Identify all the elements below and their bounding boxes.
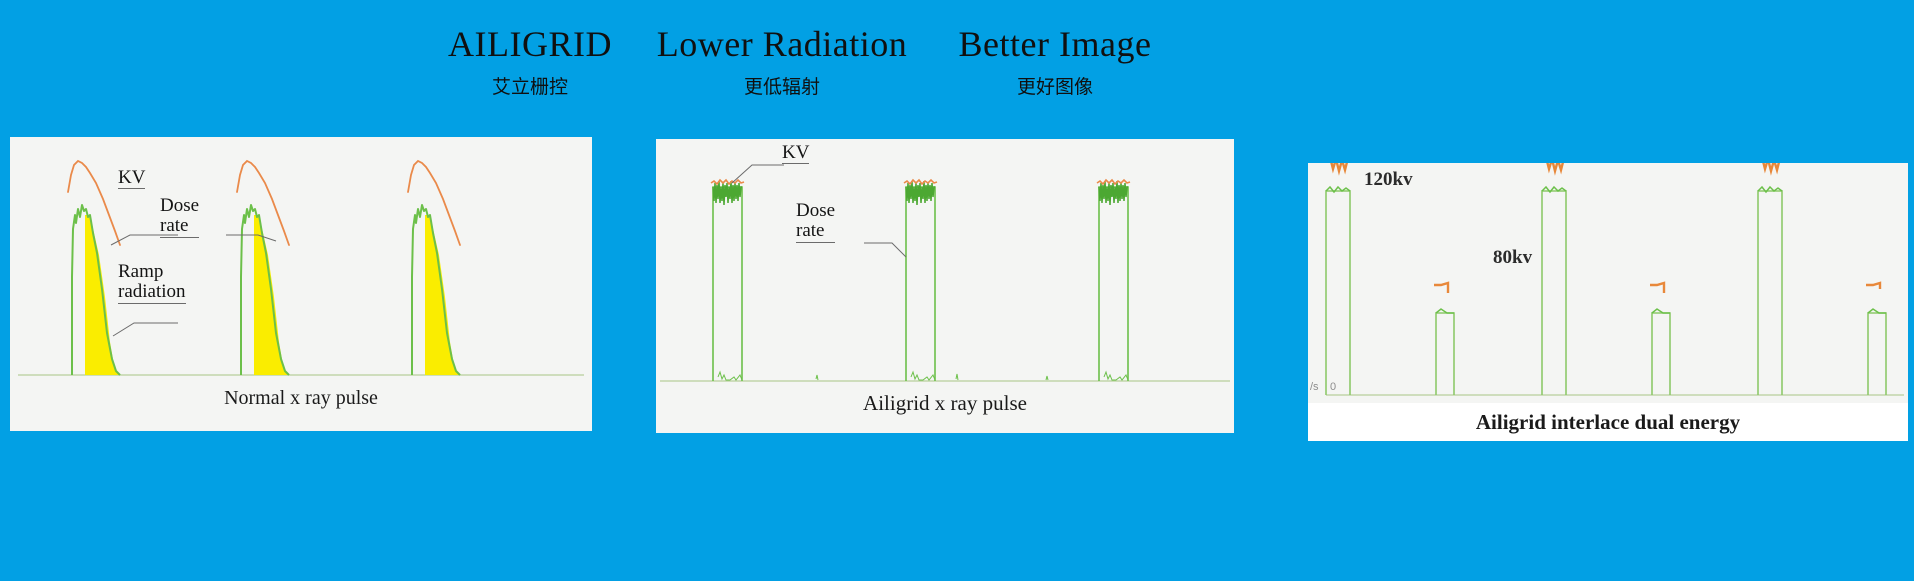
panel-ailigrid-interlace-dual-energy: 120kv 80kv /s 0 Ailigrid interlace dual …: [1308, 163, 1908, 441]
pulse-group-1: [711, 180, 744, 381]
headline-en-0: AILIGRID: [430, 22, 630, 66]
pulse-group-80kv-2: [1650, 283, 1670, 395]
chart-ailigrid-svg: [656, 139, 1234, 389]
chart-interlace-svg: [1308, 163, 1908, 403]
annotation-ramp-radiation-line1: Ramp: [118, 261, 163, 282]
kv-marker-80kv-2: [1650, 283, 1664, 293]
baseline-ripple-3: [1104, 372, 1128, 380]
annotation-ramp-radiation-line2: radiation: [118, 281, 186, 302]
pulse-group-120kv-1: [1326, 163, 1350, 395]
dose-rate-pulse-3: [1099, 187, 1128, 381]
headline-en-2: Better Image: [935, 22, 1175, 66]
headline-zh-1: 更低辐射: [636, 72, 928, 102]
axis-unit-label: /s: [1310, 381, 1319, 393]
dose-pulse-120kv-1: [1326, 191, 1350, 395]
panel-caption-ailigrid: Ailigrid x ray pulse: [656, 391, 1234, 416]
pulse-group-80kv-3: [1866, 283, 1886, 395]
panel-normal-x-ray-pulse: KV Dose rate Ramp radiation Normal x ray…: [10, 137, 592, 431]
headline-zh-0: 艾立栅控: [430, 72, 630, 102]
dose-rate-pulse-2: [906, 187, 935, 381]
baseline-ripple-1: [718, 372, 742, 380]
annotation-dose-rate: Dose rate: [796, 201, 835, 243]
dose-pulse-120kv-3: [1758, 191, 1782, 395]
dose-rate-pulse-1: [713, 187, 742, 381]
headline: AILIGRID 艾立栅控 Lower Radiation 更低辐射 Bette…: [0, 22, 1914, 122]
leader-line-ramp-radiation: [113, 323, 178, 336]
kv-trace-3: [408, 161, 460, 245]
panel-caption-interlace: Ailigrid interlace dual energy: [1308, 403, 1908, 441]
headline-column-lower-radiation: Lower Radiation 更低辐射: [636, 22, 928, 102]
pulse-group-3: [1097, 180, 1130, 381]
kv-marker-120kv-1: [1330, 163, 1348, 171]
leader-line-kv: [732, 165, 784, 183]
pulse-group-2: [237, 161, 289, 375]
dose-pulse-80kv-1: [1436, 313, 1454, 395]
headline-column-better-image: Better Image 更好图像: [935, 22, 1175, 102]
legend-label-80kv: 80kv: [1493, 247, 1532, 269]
annotation-dose-rate-line1: Dose: [796, 200, 835, 221]
kv-marker-80kv-3: [1866, 283, 1880, 289]
pulse-group-120kv-3: [1758, 163, 1782, 395]
annotation-kv: KV: [118, 168, 145, 189]
pulse-group-2: [904, 180, 937, 381]
annotation-dose-rate: Dose rate: [160, 196, 199, 238]
annotation-dose-rate-line2: rate: [160, 215, 188, 236]
pulse-group-1: [68, 161, 120, 375]
axis-zero-label: 0: [1330, 381, 1336, 393]
annotation-dose-rate-line2: rate: [796, 220, 824, 241]
chart-ailigrid-x-ray-pulse: KV Dose rate: [656, 139, 1234, 389]
headline-en-1: Lower Radiation: [636, 22, 928, 66]
kv-marker-80kv-1: [1434, 283, 1448, 293]
chart-normal-x-ray-pulse: KV Dose rate Ramp radiation: [10, 137, 592, 385]
dose-pulse-120kv-2: [1542, 191, 1566, 395]
headline-zh-2: 更好图像: [935, 72, 1175, 102]
annotation-ramp-radiation: Ramp radiation: [118, 262, 186, 304]
annotation-dose-rate-line1: Dose: [160, 195, 199, 216]
chart-normal-svg: [10, 137, 592, 385]
kv-trace-2: [237, 161, 289, 245]
leader-line-dose-rate: [864, 243, 906, 257]
legend-label-120kv: 120kv: [1364, 169, 1413, 191]
pulse-group-3: [408, 161, 460, 375]
kv-trace-1: [68, 161, 120, 245]
panel-ailigrid-x-ray-pulse: KV Dose rate Ailigrid x ray pulse: [656, 139, 1234, 433]
annotation-kv: KV: [782, 143, 809, 164]
dose-pulse-80kv-2: [1652, 313, 1670, 395]
pulse-group-80kv-1: [1434, 283, 1454, 395]
pulse-group-120kv-2: [1542, 163, 1566, 395]
kv-marker-120kv-2: [1546, 163, 1564, 171]
panel-caption-normal: Normal x ray pulse: [10, 387, 592, 410]
baseline-ripple-2: [911, 372, 935, 380]
dose-pulse-80kv-3: [1868, 313, 1886, 395]
kv-marker-120kv-3: [1762, 163, 1780, 171]
headline-column-ailigrid: AILIGRID 艾立栅控: [430, 22, 630, 102]
leader-line-dose-rate: [226, 235, 276, 241]
chart-interlace-dual-energy: 120kv 80kv /s 0: [1308, 163, 1908, 403]
